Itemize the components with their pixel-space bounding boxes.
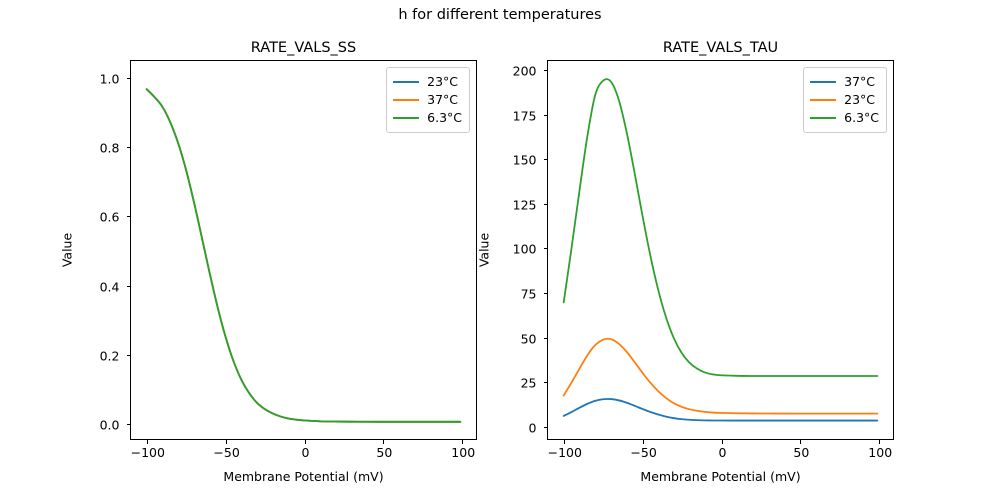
legend-line-swatch (393, 81, 419, 83)
left-plot-legend[interactable]: 23°C37°C6.3°C (386, 67, 470, 133)
legend-entry[interactable]: 37°C (393, 91, 462, 109)
x-tick-label: 50 (793, 446, 809, 460)
legend-entry[interactable]: 23°C (810, 91, 879, 109)
legend-line-swatch (393, 99, 419, 101)
series-line (147, 89, 461, 422)
legend-line-swatch (810, 99, 836, 101)
y-tick: 0.6 (127, 216, 132, 217)
x-tick-label: 50 (376, 446, 392, 460)
matplotlib-figure: h for different temperatures RATE_VALS_S… (0, 0, 1000, 500)
y-tick: 0.2 (127, 355, 132, 356)
legend-label: 37°C (844, 75, 875, 89)
y-tick: 200 (544, 70, 549, 71)
legend-entry[interactable]: 6.3°C (393, 109, 462, 127)
left-xlabel: Membrane Potential (mV) (131, 469, 476, 484)
y-tick-label: 175 (513, 109, 537, 122)
x-tick-label: −50 (630, 446, 656, 460)
axes-rate-vals-tau: RATE_VALS_TAU Value Membrane Potential (… (547, 60, 894, 440)
legend-line-swatch (810, 117, 836, 119)
legend-label: 23°C (427, 75, 458, 89)
x-tick: 50 (800, 439, 801, 444)
y-tick: 125 (544, 204, 549, 205)
right-ylabel: Value (477, 233, 492, 267)
right-xlabel: Membrane Potential (mV) (548, 469, 893, 484)
y-tick-label: 0.0 (100, 418, 120, 431)
y-tick-label: 0.2 (100, 349, 120, 362)
y-tick: 0.8 (127, 147, 132, 148)
y-tick: 25 (544, 382, 549, 383)
y-tick-label: 200 (513, 64, 537, 77)
y-tick-label: 50 (521, 332, 537, 345)
x-tick-label: 100 (451, 446, 475, 460)
x-tick: 50 (383, 439, 384, 444)
y-tick: 175 (544, 115, 549, 116)
y-tick: 75 (544, 293, 549, 294)
legend-label: 23°C (844, 93, 875, 107)
y-tick-label: 150 (513, 154, 537, 167)
legend-label: 6.3°C (427, 111, 462, 125)
x-tick-label: −100 (548, 446, 582, 460)
y-tick: 100 (544, 248, 549, 249)
y-tick-label: 25 (521, 377, 537, 390)
legend-entry[interactable]: 6.3°C (810, 109, 879, 127)
y-tick: 1.0 (127, 78, 132, 79)
figure-suptitle: h for different temperatures (0, 6, 1000, 24)
y-tick: 150 (544, 159, 549, 160)
y-tick-label: 0.8 (100, 142, 120, 155)
x-tick: −50 (226, 439, 227, 444)
x-tick: 0 (722, 439, 723, 444)
y-tick-label: 0.4 (100, 280, 120, 293)
left-plot-title: RATE_VALS_SS (131, 39, 476, 57)
y-tick-label: 0.6 (100, 211, 120, 224)
legend-line-swatch (810, 81, 836, 83)
right-plot-legend[interactable]: 37°C23°C6.3°C (803, 67, 887, 133)
right-plot-title: RATE_VALS_TAU (548, 39, 893, 57)
series-line (564, 399, 878, 421)
series-line (147, 89, 461, 422)
x-tick-label: −50 (213, 446, 239, 460)
series-line (147, 89, 461, 422)
x-tick: −50 (643, 439, 644, 444)
y-tick: 50 (544, 338, 549, 339)
legend-label: 37°C (427, 93, 458, 107)
x-tick: 100 (879, 439, 880, 444)
y-tick-label: 0 (529, 421, 537, 434)
y-tick: 0 (544, 427, 549, 428)
y-tick: 0.0 (127, 424, 132, 425)
x-tick-label: 100 (868, 446, 892, 460)
axes-rate-vals-ss: RATE_VALS_SS Value Membrane Potential (m… (130, 60, 477, 440)
x-tick: 0 (305, 439, 306, 444)
x-tick-label: 0 (719, 446, 727, 460)
y-tick-label: 100 (513, 243, 537, 256)
left-ylabel: Value (60, 233, 75, 267)
x-tick: −100 (147, 439, 148, 444)
legend-entry[interactable]: 23°C (393, 73, 462, 91)
x-tick: 100 (462, 439, 463, 444)
x-tick-label: 0 (302, 446, 310, 460)
y-tick-label: 125 (513, 198, 537, 211)
y-tick: 0.4 (127, 286, 132, 287)
legend-label: 6.3°C (844, 111, 879, 125)
y-tick-label: 75 (521, 287, 537, 300)
legend-entry[interactable]: 37°C (810, 73, 879, 91)
x-tick: −100 (564, 439, 565, 444)
legend-line-swatch (393, 117, 419, 119)
y-tick-label: 1.0 (100, 73, 120, 86)
x-tick-label: −100 (131, 446, 165, 460)
